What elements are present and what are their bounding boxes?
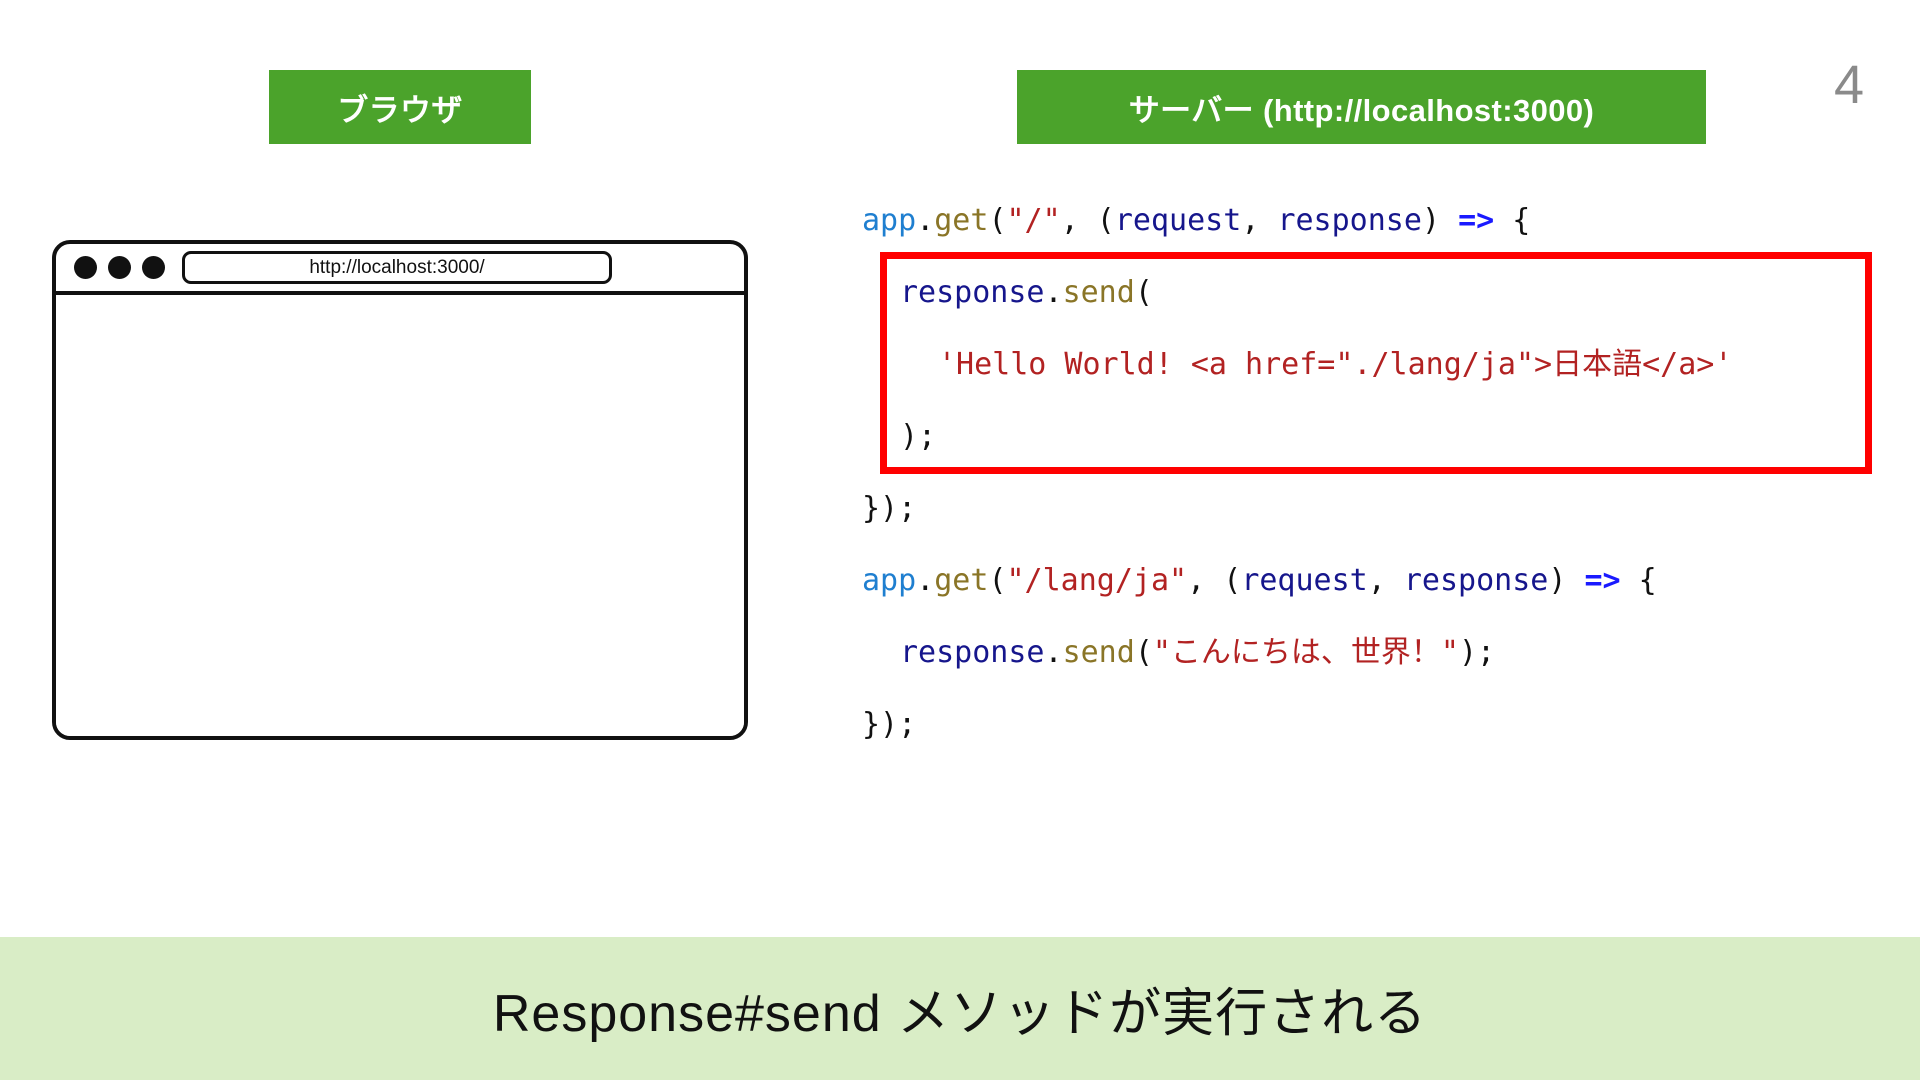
browser-mock-window: http://localhost:3000/ — [52, 240, 748, 740]
code-token-punct: ( — [988, 563, 1006, 598]
code-token-punct: . — [1045, 275, 1063, 310]
code-token-punct: }); — [862, 491, 916, 526]
code-token-var: response — [1277, 203, 1422, 238]
close-dot-icon[interactable] — [74, 256, 97, 279]
code-line: 'Hello World! <a href="./lang/ja">日本語</a… — [862, 329, 1872, 401]
code-line: app.get("/lang/ja", (request, response) … — [862, 545, 1872, 617]
code-line: ); — [862, 401, 1872, 473]
window-controls — [74, 256, 165, 279]
code-token-punct: , — [1241, 203, 1277, 238]
code-line: }); — [862, 473, 1872, 545]
code-line: }); — [862, 689, 1872, 761]
code-token-var: response — [900, 275, 1045, 310]
code-token-str: "こんにちは、世界！" — [1153, 635, 1459, 670]
caption-text: Response#send メソッドが実行される — [493, 971, 1427, 1046]
code-token-punct: . — [1045, 635, 1063, 670]
maximize-dot-icon[interactable] — [142, 256, 165, 279]
code-token-method: send — [1063, 635, 1135, 670]
server-section-header: サーバー (http://localhost:3000) — [1017, 70, 1706, 144]
code-token-punct: ( — [988, 203, 1006, 238]
code-token-punct: ) — [1548, 563, 1584, 598]
code-token-obj: app — [862, 203, 916, 238]
code-token-punct: . — [916, 563, 934, 598]
code-token-var: response — [900, 635, 1045, 670]
code-token-method: send — [1063, 275, 1135, 310]
code-token-punct: { — [1621, 563, 1657, 598]
slide-page-number: 4 — [1834, 58, 1864, 112]
code-token-punct: , ( — [1061, 203, 1115, 238]
browser-titlebar: http://localhost:3000/ — [56, 244, 744, 295]
code-line: response.send("こんにちは、世界！"); — [862, 617, 1872, 689]
url-bar[interactable]: http://localhost:3000/ — [182, 251, 612, 284]
browser-section-header-label: ブラウザ — [337, 85, 463, 130]
code-token-punct: . — [916, 203, 934, 238]
code-token-str: 'Hello World! <a href="./lang/ja">日本語</a… — [938, 347, 1732, 382]
browser-section-header: ブラウザ — [269, 70, 531, 144]
code-token-var: request — [1115, 203, 1241, 238]
code-token-method: get — [934, 563, 988, 598]
code-token-var: request — [1241, 563, 1367, 598]
browser-viewport — [56, 295, 744, 736]
code-token-punct: ); — [900, 419, 936, 454]
code-token-punct: ( — [1135, 275, 1153, 310]
server-code-block: app.get("/", (request, response) => {res… — [862, 185, 1872, 761]
code-token-str: "/lang/ja" — [1007, 563, 1188, 598]
minimize-dot-icon[interactable] — [108, 256, 131, 279]
code-token-str: "/" — [1007, 203, 1061, 238]
code-line: response.send( — [862, 257, 1872, 329]
url-text: http://localhost:3000/ — [309, 257, 484, 279]
code-token-punct: , — [1368, 563, 1404, 598]
caption-band: Response#send メソッドが実行される — [0, 937, 1920, 1080]
code-token-arrow: => — [1458, 203, 1494, 238]
code-token-punct: ( — [1135, 635, 1153, 670]
code-token-var: response — [1404, 563, 1549, 598]
code-token-punct: ) — [1422, 203, 1458, 238]
code-token-punct: }); — [862, 707, 916, 742]
server-section-header-label: サーバー (http://localhost:3000) — [1129, 85, 1595, 130]
code-token-method: get — [934, 203, 988, 238]
code-token-obj: app — [862, 563, 916, 598]
code-line: app.get("/", (request, response) => { — [862, 185, 1872, 257]
code-token-punct: , ( — [1187, 563, 1241, 598]
code-token-punct: { — [1494, 203, 1530, 238]
code-token-punct: ); — [1459, 635, 1495, 670]
code-token-arrow: => — [1585, 563, 1621, 598]
